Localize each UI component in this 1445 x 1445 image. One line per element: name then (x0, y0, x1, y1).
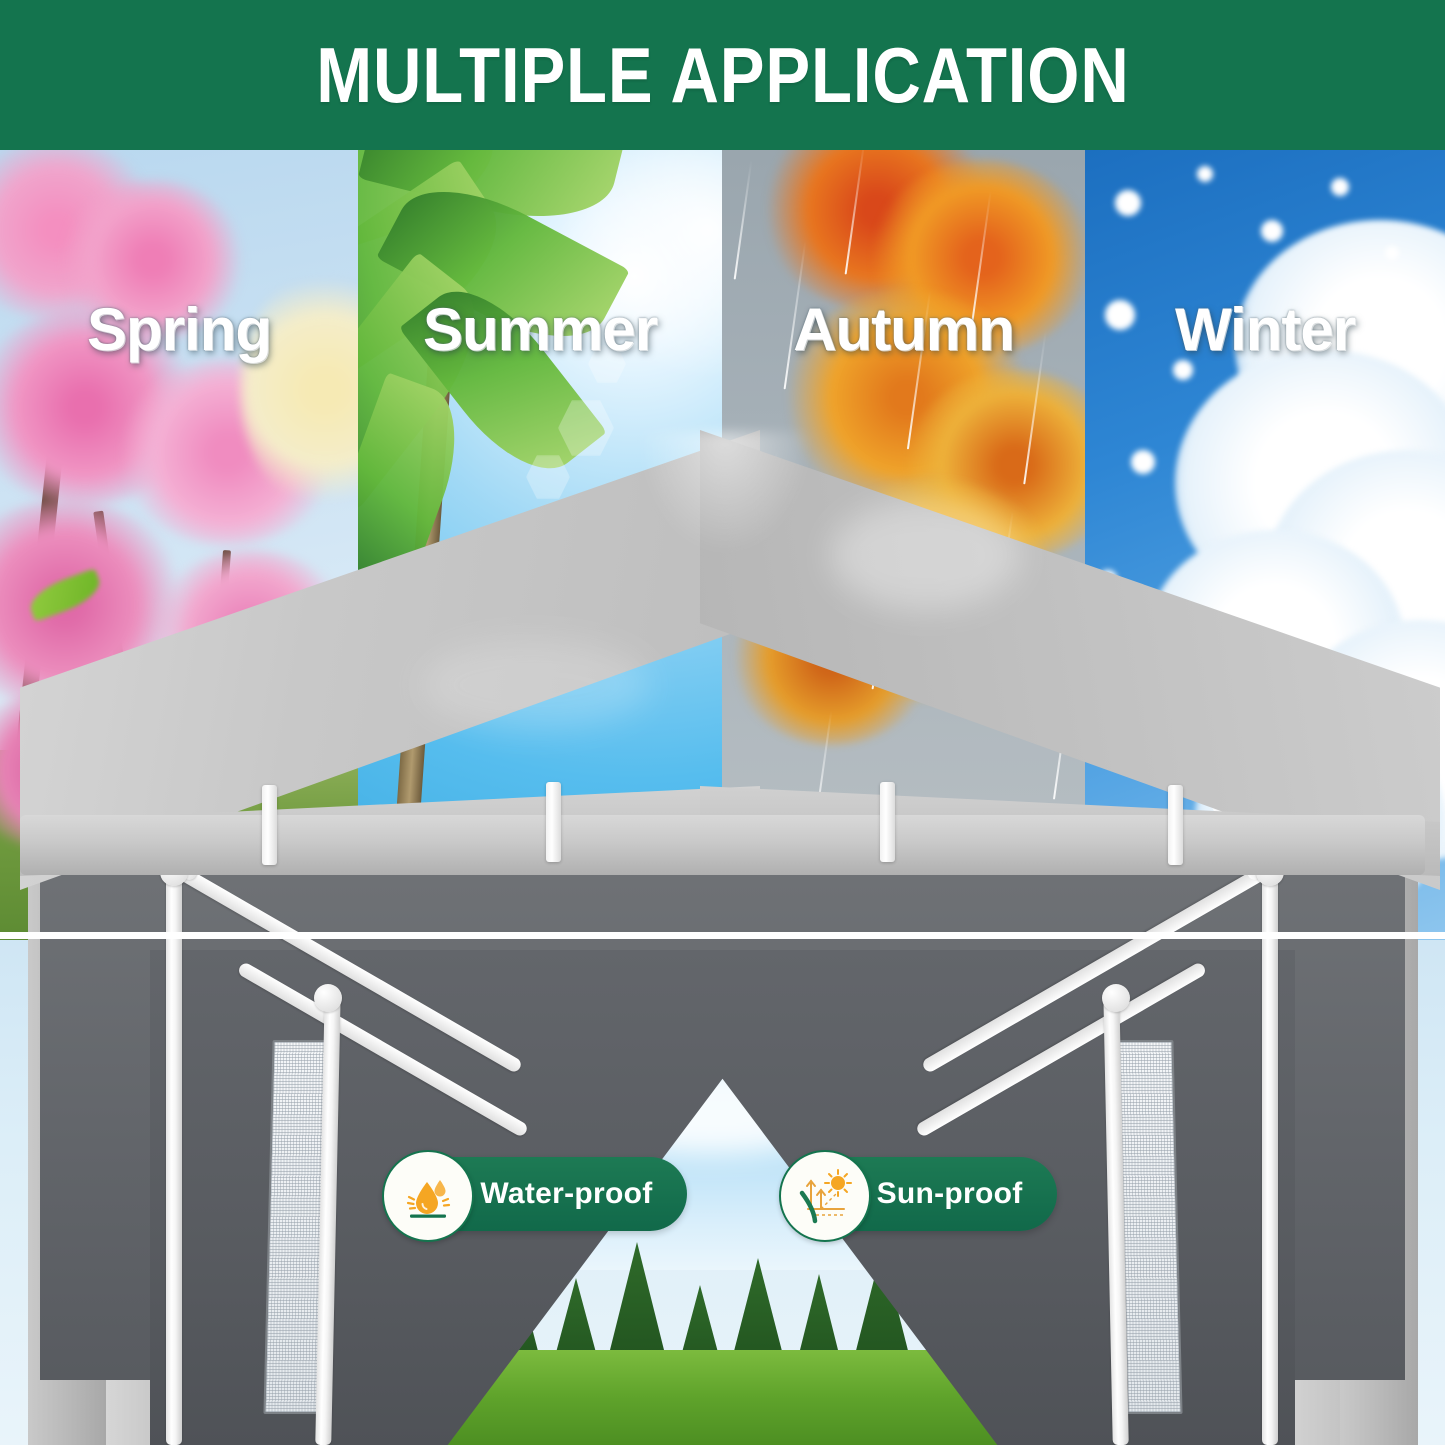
pine-forest (300, 1235, 1145, 1445)
snowflake (1173, 360, 1193, 380)
badge-label: Water-proof (480, 1177, 652, 1211)
maple-cluster (732, 570, 932, 745)
snowflake (1197, 166, 1213, 182)
badge-water-proof[interactable]: Water-proof (388, 1150, 686, 1238)
badge-sun-proof[interactable]: Sun-proof (785, 1150, 1057, 1238)
page-title: MULTIPLE APPLICATION (316, 36, 1129, 114)
season-strip: Spring Summer (0, 150, 1445, 940)
season-panel-autumn: Autumn (722, 150, 1085, 940)
season-panel-spring: Spring (0, 150, 358, 940)
snow-foliage (1195, 710, 1445, 925)
header-banner: MULTIPLE APPLICATION (0, 0, 1445, 150)
season-label-summer: Summer (358, 300, 722, 360)
season-label-winter: Winter (1085, 300, 1445, 360)
snowflake (1131, 450, 1155, 474)
autumn-ground (722, 820, 1085, 940)
snowflake (1261, 220, 1283, 242)
snowflake (1099, 570, 1117, 588)
blossom-cluster (150, 550, 350, 720)
scene-divider-line (0, 932, 1445, 939)
season-panel-winter: Winter (1085, 150, 1445, 940)
snowflake (1285, 790, 1305, 810)
season-label-autumn: Autumn (722, 300, 1085, 360)
snowflake (1205, 620, 1227, 642)
snowflake (1115, 190, 1141, 216)
water-drop-icon (382, 1150, 474, 1242)
grass (300, 1350, 1145, 1445)
cloud (700, 950, 1020, 1060)
feature-badges: Water-proof Sun-proof (0, 1150, 1445, 1250)
season-panel-summer: Summer (358, 150, 722, 940)
summer-sea (358, 820, 722, 940)
season-label-spring: Spring (0, 300, 358, 360)
badge-label: Sun-proof (877, 1177, 1023, 1211)
snowflake (1385, 246, 1399, 260)
snowflake (1145, 710, 1161, 726)
product-marketing-image: Spring Summer (0, 0, 1445, 1445)
sun-deflect-icon (779, 1150, 871, 1242)
cloud (380, 970, 640, 1060)
snowflake (1331, 178, 1349, 196)
cloud (560, 1060, 860, 1155)
